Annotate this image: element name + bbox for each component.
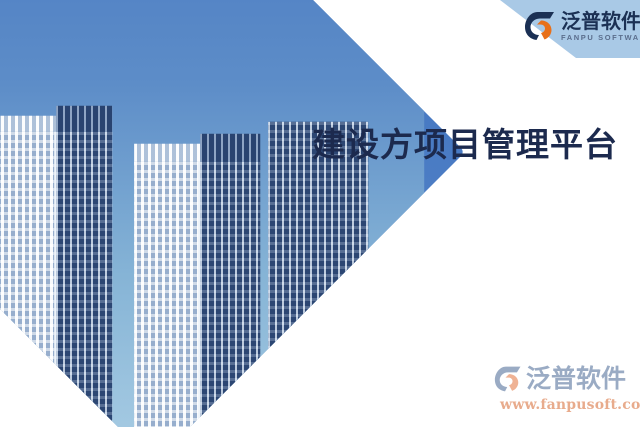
brand-name-en: FANPU SOFTWARE <box>561 34 640 42</box>
presentation-slide: 泛普软件 FANPU SOFTWARE 建设方项目管理平台 泛普软件 www.f… <box>0 0 640 427</box>
tower-left-corner-edge <box>54 132 56 427</box>
diamond-gradient <box>0 0 465 427</box>
watermark-brand-cn: 泛普软件 <box>526 366 626 392</box>
brand-text: 泛普软件 FANPU SOFTWARE <box>561 11 640 42</box>
fanpu-logo-mark <box>524 11 558 41</box>
slide-title: 建设方项目管理平台 <box>312 118 618 166</box>
fanpu-watermark-mark <box>494 365 524 393</box>
skyscraper-illustration <box>0 0 424 427</box>
tower-right <box>134 162 260 427</box>
blue-diamond-panel <box>0 0 465 427</box>
tower-far-right-face-dark <box>268 122 368 427</box>
watermark-url: www.fanpusoft.com <box>500 397 640 413</box>
tower-far-right <box>268 122 368 427</box>
tower-left-face-dark <box>56 132 112 427</box>
brand-logo: 泛普软件 FANPU SOFTWARE <box>524 6 636 46</box>
tower-right-corner-edge <box>198 162 200 427</box>
tower-left-face-light <box>0 132 56 427</box>
watermark-row: 泛普软件 <box>494 362 640 396</box>
tower-right-face-dark <box>200 162 260 427</box>
tower-right-face-light <box>134 162 200 427</box>
brand-name-cn: 泛普软件 <box>561 11 640 32</box>
site-watermark: 泛普软件 www.fanpusoft.com <box>494 362 640 418</box>
tower-left <box>0 132 112 427</box>
